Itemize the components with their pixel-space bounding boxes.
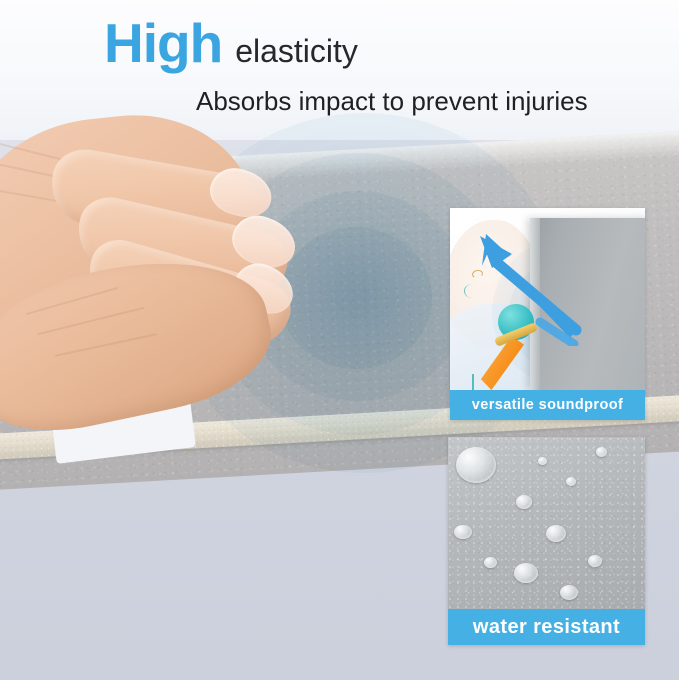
water-droplet-icon [454, 525, 472, 539]
water-droplet-icon [546, 525, 566, 542]
product-feature-image: High elasticity Absorbs impact to preven… [0, 0, 679, 680]
water-droplet-icon [588, 555, 602, 567]
headline: High elasticity [104, 16, 358, 71]
water-droplet-icon [484, 557, 497, 568]
water-droplet-icon [566, 477, 576, 486]
subheadline: Absorbs impact to prevent injuries [196, 86, 588, 117]
soundproof-caption: versatile soundproof [450, 390, 645, 420]
water-droplet-icon [538, 457, 547, 465]
microphone-cord [472, 374, 546, 390]
microphone-icon [476, 304, 536, 390]
headline-emphasis: High [104, 16, 222, 71]
water-droplet-icon [560, 585, 578, 600]
feature-panel-water-resistant: water resistant [448, 437, 645, 645]
soundproof-illustration [450, 208, 645, 390]
water-droplet-icon [516, 495, 532, 509]
water-droplet-icon [456, 447, 496, 483]
feature-panel-soundproof: versatile soundproof [450, 208, 645, 420]
water-resistant-illustration [448, 437, 645, 609]
water-droplet-icon [596, 447, 607, 457]
headline-rest: elasticity [235, 35, 358, 67]
water-droplet-icon [514, 563, 538, 583]
water-resistant-caption: water resistant [448, 609, 645, 645]
